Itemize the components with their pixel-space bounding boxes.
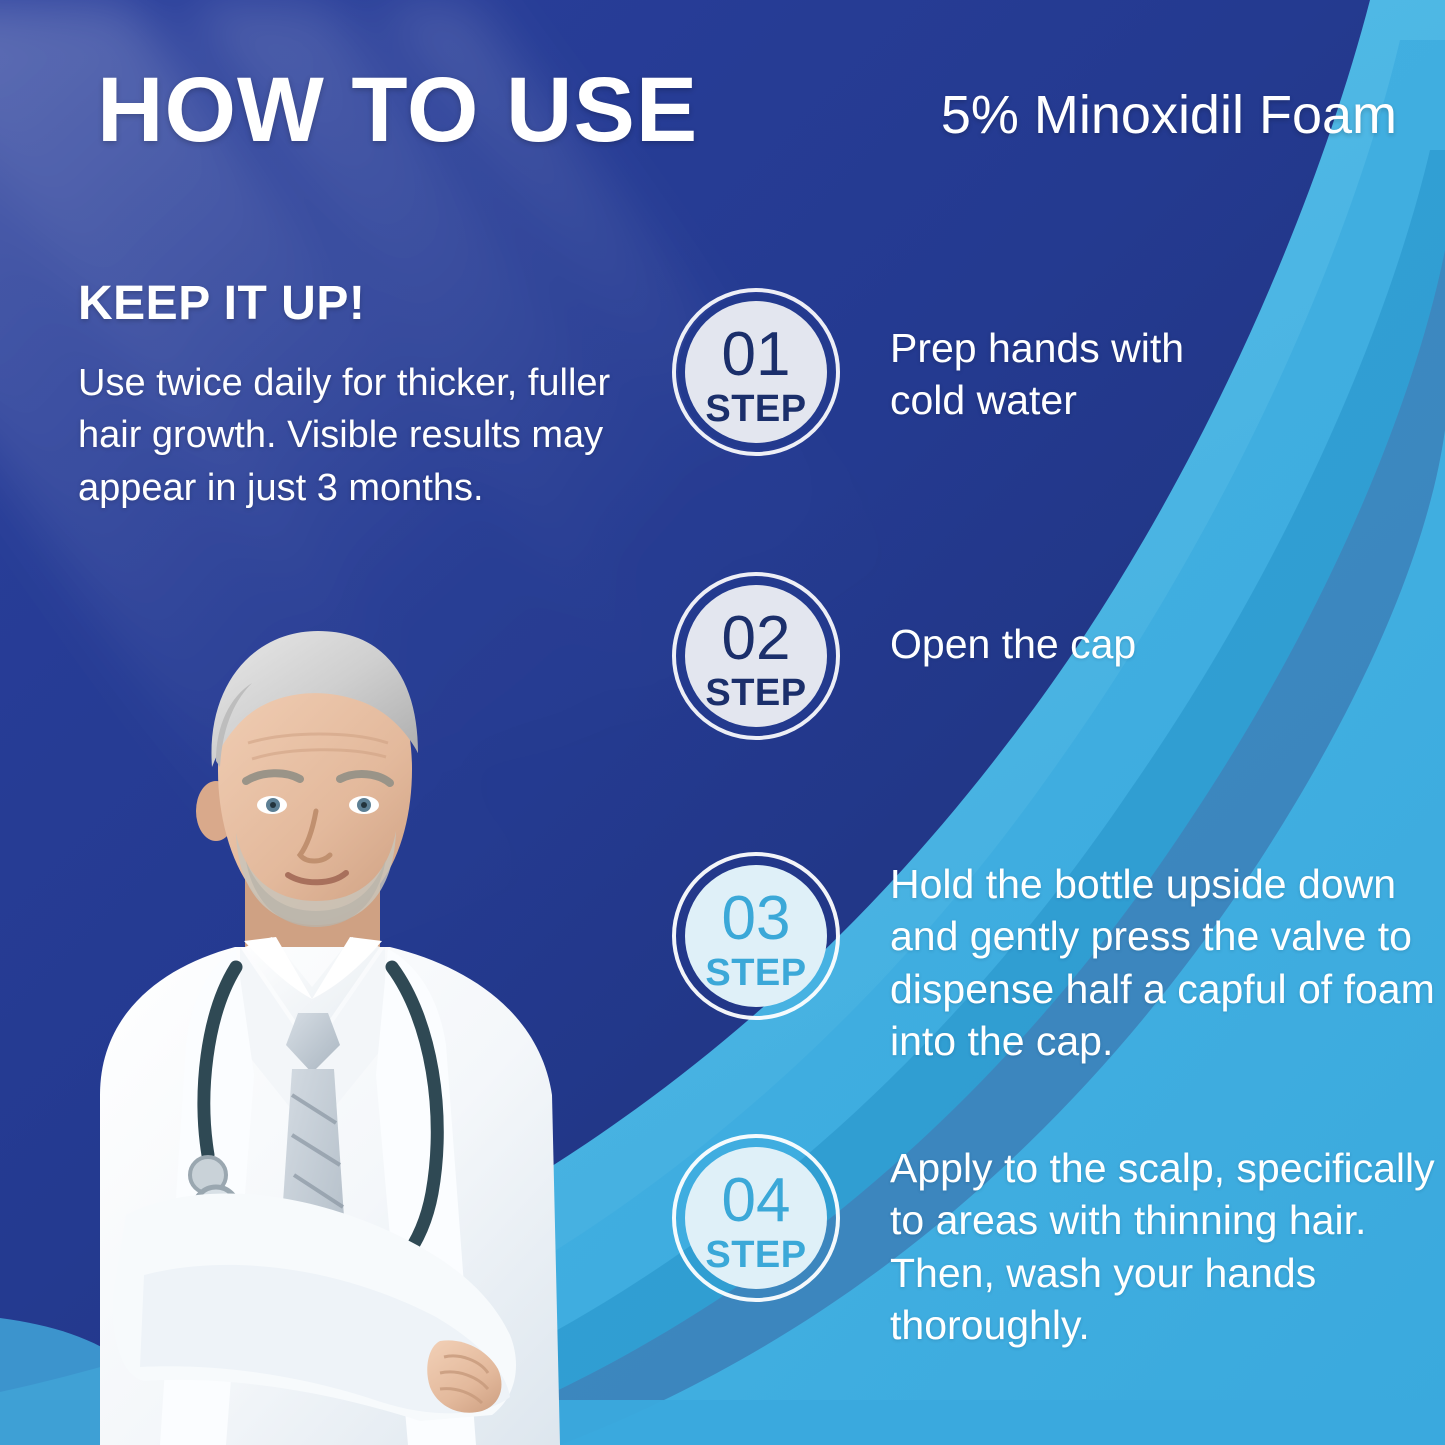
- step-number: 01: [722, 324, 791, 386]
- step-label: STEP: [705, 674, 806, 712]
- step-description: Open the cap: [890, 618, 1136, 670]
- step-number: 03: [722, 888, 791, 950]
- step-item-04: 04 STEP Apply to the scalp, specifically…: [672, 1134, 1445, 1352]
- step-number: 04: [722, 1170, 791, 1232]
- infographic-poster: HOW TO USE 5% Minoxidil Foam KEEP IT UP!…: [0, 0, 1445, 1445]
- step-item-02: 02 STEP Open the cap: [672, 572, 1136, 740]
- steps-list: 01 STEP Prep hands with cold water 02 ST…: [0, 0, 1445, 1445]
- step-label: STEP: [705, 954, 806, 992]
- step-description: Prep hands with cold water: [890, 322, 1270, 427]
- step-number: 02: [722, 608, 791, 670]
- step-label: STEP: [705, 390, 806, 428]
- step-label: STEP: [705, 1236, 806, 1274]
- step-description: Apply to the scalp, specifically to area…: [890, 1142, 1445, 1352]
- step-description: Hold the bottle upside down and gently p…: [890, 858, 1445, 1068]
- step-badge-03: 03 STEP: [672, 852, 840, 1020]
- step-item-03: 03 STEP Hold the bottle upside down and …: [672, 852, 1445, 1068]
- step-badge-02: 02 STEP: [672, 572, 840, 740]
- step-badge-01: 01 STEP: [672, 288, 840, 456]
- step-item-01: 01 STEP Prep hands with cold water: [672, 288, 1270, 456]
- step-badge-04: 04 STEP: [672, 1134, 840, 1302]
